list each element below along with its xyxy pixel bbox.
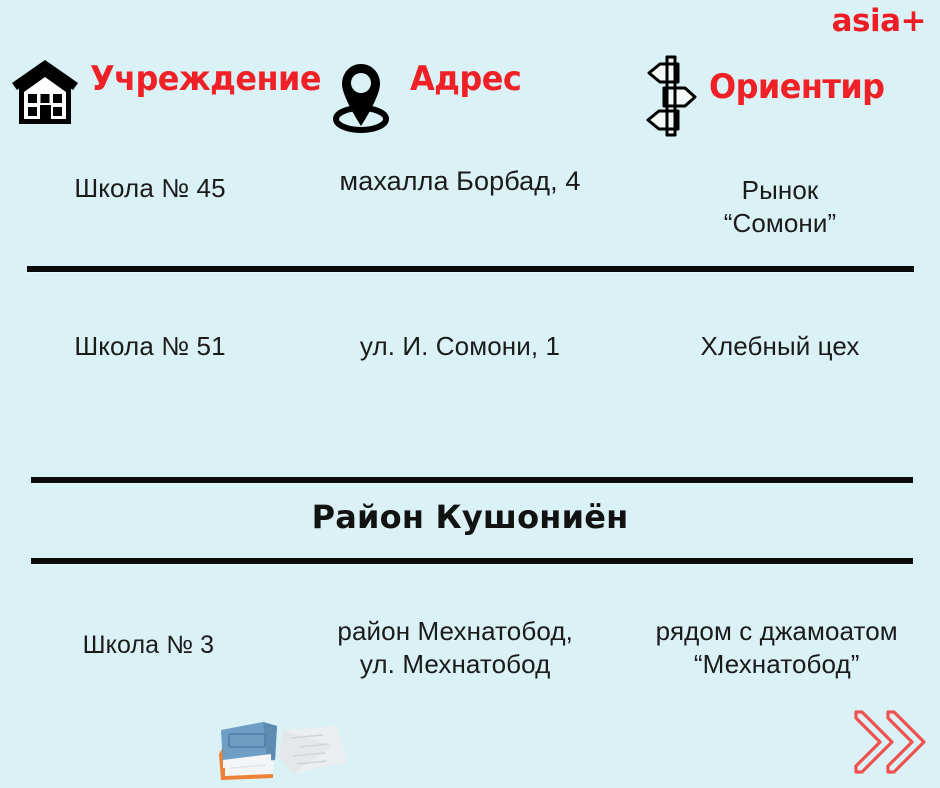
- header-cell-address: Адрес: [330, 56, 528, 141]
- cell-address: район Мехнатобод, ул. Мехнатобод: [297, 615, 614, 682]
- table-row: Школа № 45 махалла Борбад, 4 Рынок “Сомо…: [0, 162, 940, 241]
- cell-institution: Школа № 3: [0, 615, 297, 682]
- section-divider-top: [31, 477, 913, 483]
- section-title: Район Кушониён: [0, 498, 940, 536]
- header-label-institution: Учреждение: [90, 62, 321, 96]
- table-row: Школа № 51 ул. И. Сомони, 1 Хлебный цех: [0, 330, 940, 363]
- header-cell-institution: Учреждение: [8, 56, 336, 133]
- school-building-icon: [8, 56, 82, 133]
- cell-address-line2: ул. Мехнатобод: [297, 648, 614, 681]
- infographic-canvas: asia+ Учреждение: [0, 0, 940, 788]
- signpost-icon: [635, 52, 707, 143]
- stacked-books-and-papers-icon: [205, 716, 355, 788]
- cell-landmark-line1: Рынок: [620, 174, 940, 207]
- row-divider: [27, 266, 914, 272]
- cell-landmark-line2: “Сомони”: [620, 207, 940, 240]
- section-divider-bottom: [31, 558, 913, 564]
- cell-address: махалла Борбад, 4: [300, 162, 620, 241]
- header-label-address: Адрес: [410, 62, 521, 96]
- cell-institution: Школа № 51: [0, 330, 300, 363]
- map-pin-icon: [330, 56, 392, 141]
- cell-address-line1: район Мехнатобод,: [297, 615, 614, 648]
- double-chevron-right-icon: [848, 706, 928, 780]
- asia-plus-logo: asia+: [832, 6, 926, 37]
- cell-address: ул. И. Сомони, 1: [300, 330, 620, 363]
- cell-landmark: Хлебный цех: [620, 330, 940, 363]
- cell-institution: Школа № 45: [0, 162, 300, 241]
- cell-landmark-line2: “Мехнатобод”: [613, 648, 940, 681]
- table-row: Школа № 3 район Мехнатобод, ул. Мехнатоб…: [0, 615, 940, 682]
- cell-landmark: Рынок “Сомони”: [620, 162, 940, 241]
- table-header-row: Учреждение Адрес: [0, 44, 940, 136]
- cell-landmark: рядом с джамоатом “Мехнатобод”: [613, 615, 940, 682]
- header-cell-landmark: Ориентир: [635, 52, 896, 143]
- header-label-landmark: Ориентир: [709, 70, 884, 104]
- cell-landmark-line1: рядом с джамоатом: [613, 615, 940, 648]
